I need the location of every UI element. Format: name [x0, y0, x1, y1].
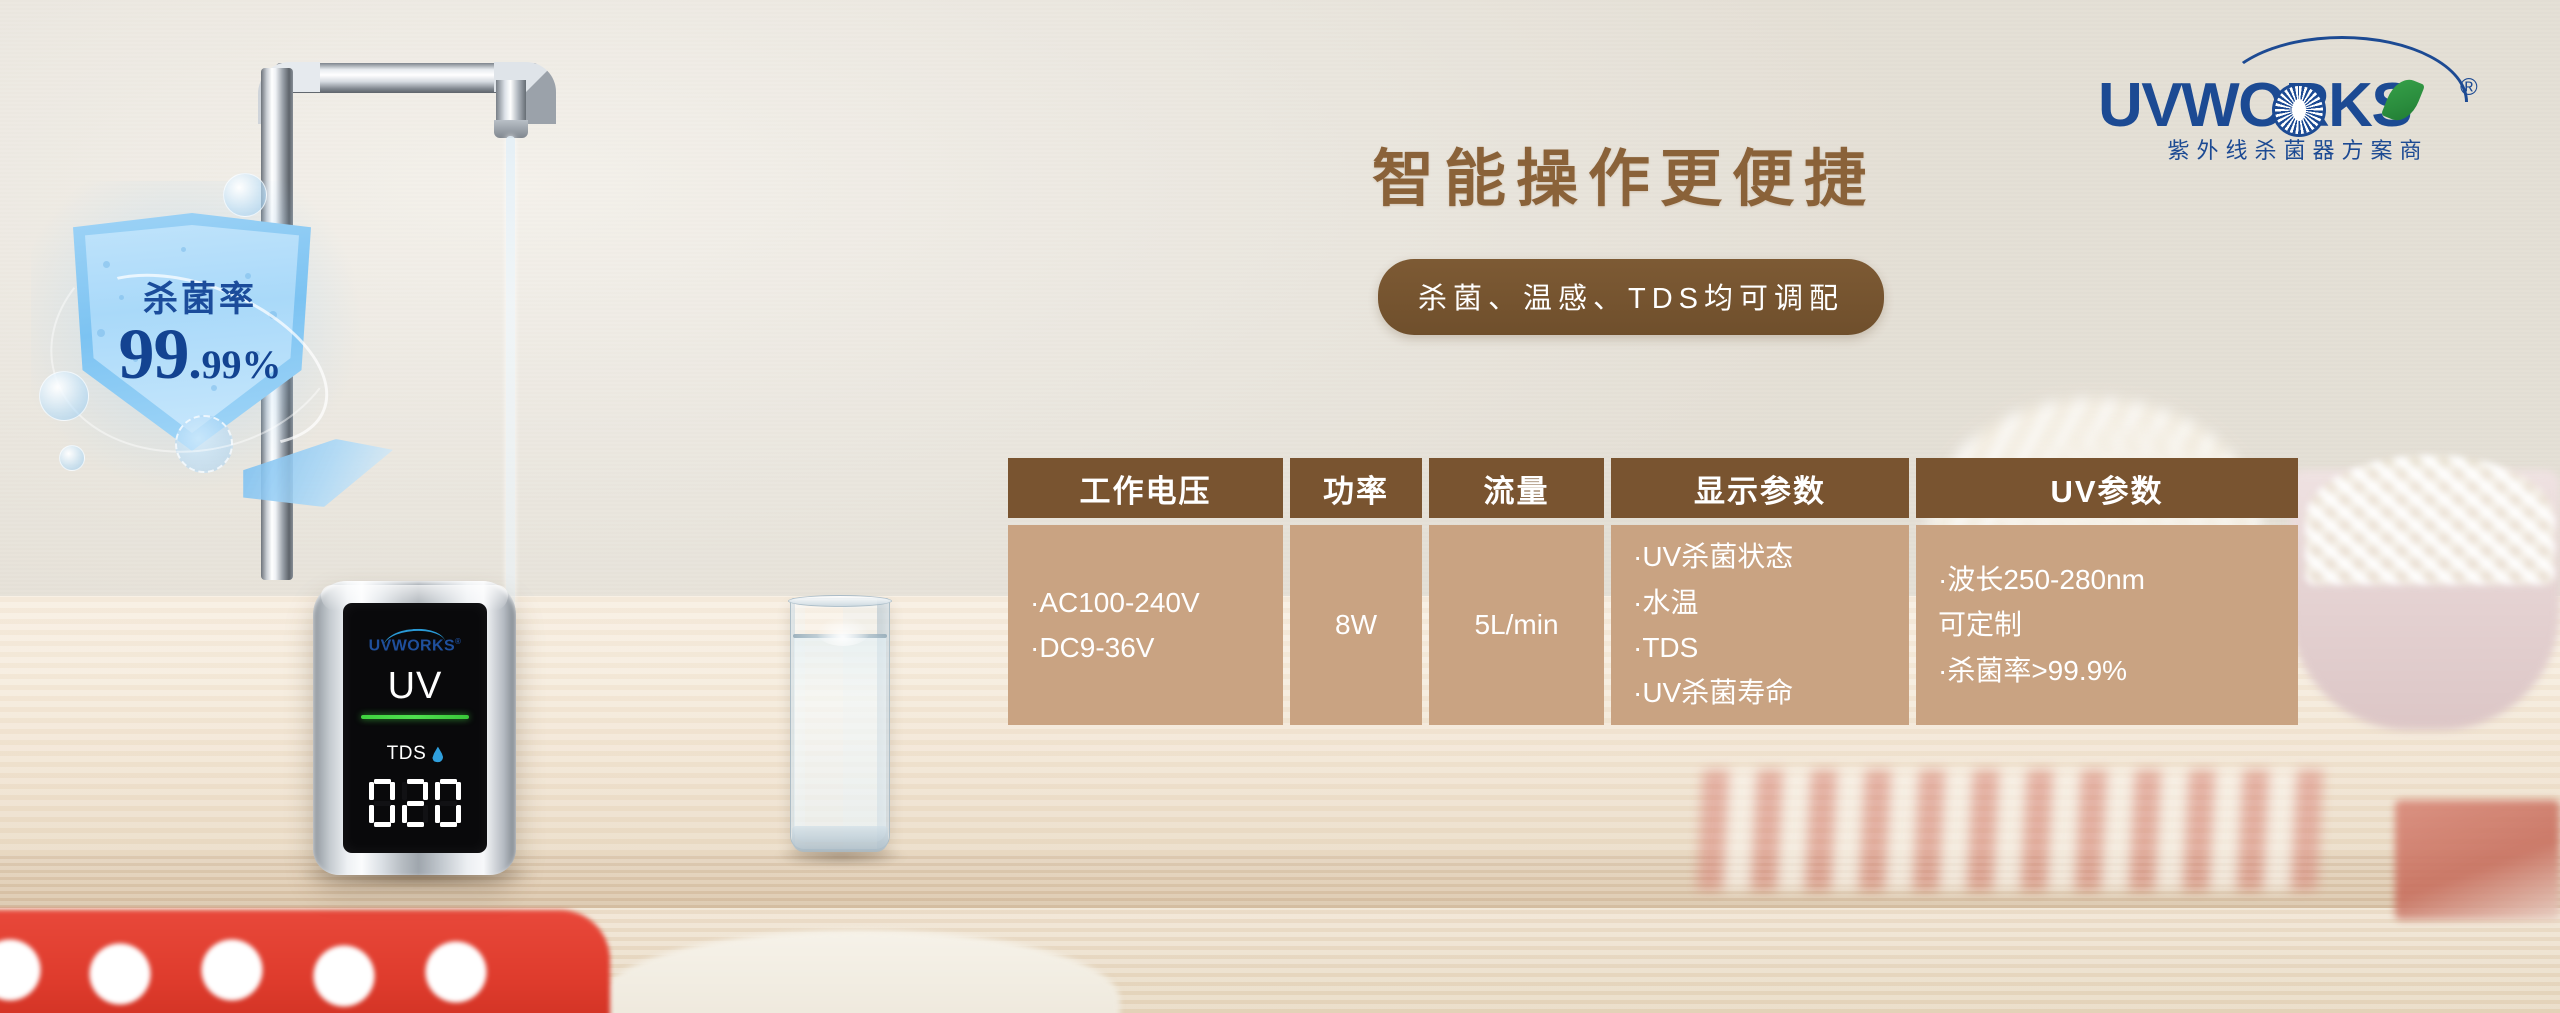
badge-value-integer: 99	[119, 314, 189, 394]
spec-line: ·AC100-240V	[1030, 580, 1200, 625]
spec-column: 功率 8W	[1290, 458, 1422, 725]
spec-column: UV参数 ·波长250-280nm 可定制 ·杀菌率>99.9%	[1916, 458, 2298, 725]
bubble-icon	[39, 371, 89, 421]
seven-segment-digit	[369, 779, 395, 827]
spec-line: ·水温	[1633, 580, 1698, 625]
brand-tagline: 紫外线杀菌器方案商	[2120, 133, 2476, 165]
device-screen-logo-mark: ®	[455, 637, 461, 646]
placemat-prop	[1697, 770, 2323, 890]
bubble-icon	[59, 445, 85, 471]
device-screen-logo-text: UVWORKS	[369, 637, 455, 654]
spec-line: 可定制	[1938, 602, 2022, 647]
spec-column: 工作电压 ·AC100-240V ·DC9-36V	[1008, 458, 1283, 725]
seven-segment-digit	[402, 779, 428, 827]
spec-line: 5L/min	[1474, 602, 1558, 647]
red-box-prop	[2395, 800, 2560, 920]
sterilization-rate-badge: 杀菌率 99.99%	[45, 195, 355, 495]
spec-cell: 8W	[1290, 525, 1422, 725]
sunburst-core	[2292, 99, 2306, 121]
glass-rim	[788, 595, 892, 607]
spec-line: ·杀菌率>99.9%	[1938, 648, 2127, 693]
ceramic-bowl-netting-prop	[2305, 455, 2555, 585]
device-display-screen[interactable]: UVWORKS® UV TDS	[343, 603, 487, 853]
water-stream	[506, 136, 515, 611]
spec-table: 工作电压 ·AC100-240V ·DC9-36V 功率 8W 流量 5L/mi…	[1008, 458, 2308, 725]
badge-value-decimal-point: .	[189, 333, 202, 390]
spec-cell: ·UV杀菌状态 ·水温 ·TDS ·UV杀菌寿命	[1611, 525, 1909, 725]
badge-value-fraction: 99%	[202, 342, 282, 387]
water-drop-icon	[432, 746, 443, 762]
feature-pill: 杀菌、温感、TDS均可调配	[1378, 259, 1884, 335]
glass-water-fill	[794, 636, 886, 842]
device-screen-logo: UVWORKS®	[343, 637, 487, 655]
device-status-bar	[361, 715, 469, 719]
spec-line: 8W	[1335, 602, 1377, 647]
spec-cell: ·AC100-240V ·DC9-36V	[1008, 525, 1283, 725]
checkered-cloth-prop	[0, 910, 610, 1013]
device-tds-label: TDS	[387, 743, 427, 765]
water-splash	[816, 616, 870, 646]
spec-header: 工作电压	[1008, 458, 1283, 518]
glass-base	[792, 826, 888, 852]
bubble-icon	[223, 173, 267, 217]
brand-logo: UVWORKS ® 紫外线杀菌器方案商	[2098, 34, 2498, 158]
spec-header: UV参数	[1916, 458, 2298, 518]
page-title: 智能操作更便捷	[1372, 128, 1992, 218]
uv-sterilizer-device: UVWORKS® UV TDS	[313, 581, 516, 875]
sunburst-icon	[2275, 86, 2323, 134]
spec-header: 功率	[1290, 458, 1422, 518]
spec-header: 显示参数	[1611, 458, 1909, 518]
spec-line: ·DC9-36V	[1030, 625, 1154, 670]
spec-column: 显示参数 ·UV杀菌状态 ·水温 ·TDS ·UV杀菌寿命	[1611, 458, 1909, 725]
device-tds-row: TDS	[343, 743, 487, 765]
spec-line: ·UV杀菌寿命	[1633, 670, 1793, 715]
spec-line: ·UV杀菌状态	[1633, 534, 1793, 579]
badge-value: 99.99%	[45, 313, 355, 396]
banner-stage: UVWORKS® UV TDS	[0, 0, 2560, 1013]
device-mode-label: UV	[343, 665, 487, 708]
water-glass	[790, 598, 890, 868]
spec-cell: ·波长250-280nm 可定制 ·杀菌率>99.9%	[1916, 525, 2298, 725]
registered-trademark-mark: ®	[2460, 74, 2478, 102]
spec-line: ·TDS	[1633, 625, 1698, 670]
spec-cell: 5L/min	[1429, 525, 1604, 725]
device-tds-value	[343, 779, 487, 827]
seven-segment-digit	[435, 779, 461, 827]
spec-column: 流量 5L/min	[1429, 458, 1604, 725]
spec-line: ·波长250-280nm	[1938, 557, 2145, 602]
spec-header: 流量	[1429, 458, 1604, 518]
